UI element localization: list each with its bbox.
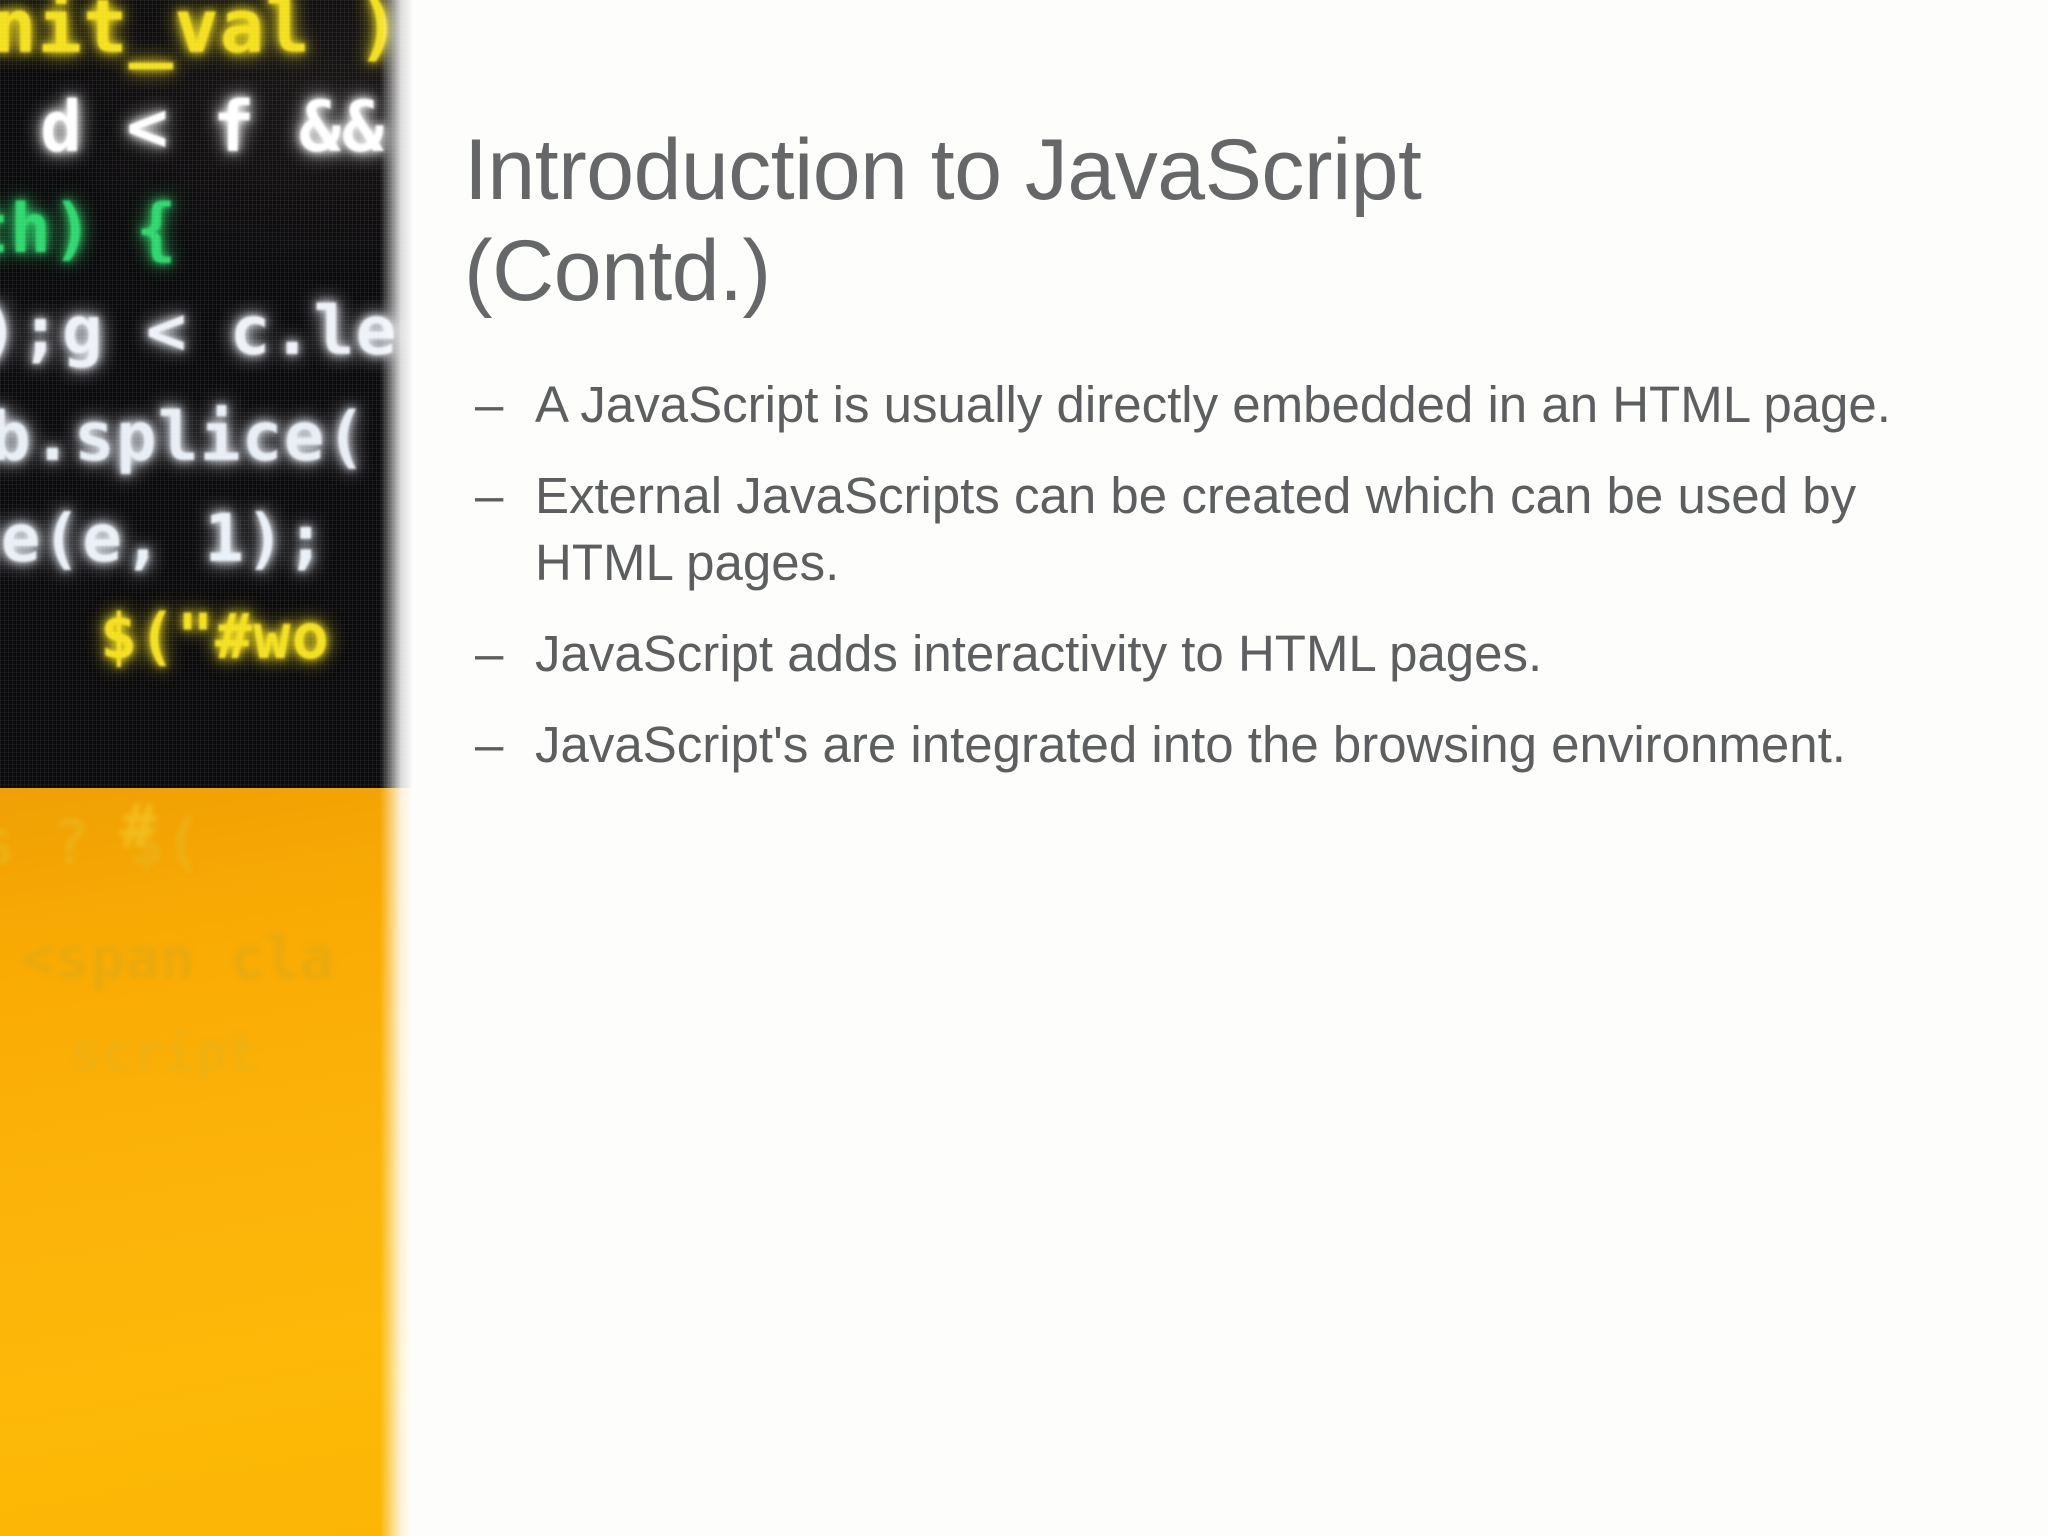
code-snippet-line-5: b.splice( xyxy=(0,398,367,477)
bullet-text-4: JavaScript's are integrated into the bro… xyxy=(535,712,1925,778)
bullet-item-4: – JavaScript's are integrated into the b… xyxy=(475,712,1925,778)
bullet-text-3: JavaScript adds interactivity to HTML pa… xyxy=(535,621,1925,687)
dash-bullet-icon: – xyxy=(475,712,535,778)
code-snippet-line-3: th) { xyxy=(0,190,178,269)
ghost-text-3: <span cla xyxy=(20,924,334,992)
code-snippet-line-4: );g < c.le xyxy=(0,292,397,371)
bullet-item-3: – JavaScript adds interactivity to HTML … xyxy=(475,621,1925,687)
slide-title-line-1: Introduction to JavaScript xyxy=(464,122,1421,218)
dash-bullet-icon: – xyxy=(475,372,535,438)
slide: nit_val ) d < f && th) { );g < c.le b.sp… xyxy=(0,0,2048,1536)
code-snippet-line-1: nit_val ) xyxy=(0,0,402,70)
slide-title: Introduction to JavaScript (Contd.) xyxy=(464,120,1884,323)
bullet-text-1: A JavaScript is usually directly embedde… xyxy=(535,372,1925,438)
bullet-text-2: External JavaScripts can be created whic… xyxy=(535,463,1925,596)
code-snippet-line-2: d < f && xyxy=(40,86,385,168)
ghost-text-1: s ? $( xyxy=(0,806,202,879)
code-editor-photo: nit_val ) d < f && th) { );g < c.le b.sp… xyxy=(0,0,412,788)
orange-gradient-photo: s ? $( # <span cla script xyxy=(0,788,412,1536)
dash-bullet-icon: – xyxy=(475,621,535,687)
bullet-list: – A JavaScript is usually directly embed… xyxy=(475,372,1925,803)
bullet-item-2: – External JavaScripts can be created wh… xyxy=(475,463,1925,596)
code-snippet-line-6: ce(e, 1); xyxy=(0,500,327,577)
code-snippet-line-7: $("#wo xyxy=(100,600,330,673)
slide-content: Introduction to JavaScript (Contd.) – A … xyxy=(412,0,2048,1536)
bullet-item-1: – A JavaScript is usually directly embed… xyxy=(475,372,1925,438)
slide-title-line-2: (Contd.) xyxy=(464,223,771,319)
left-photo-strip: nit_val ) d < f && th) { );g < c.le b.sp… xyxy=(0,0,412,1536)
ghost-text-2: # xyxy=(120,792,156,862)
ghost-text-4: script xyxy=(70,1024,258,1084)
dash-bullet-icon: – xyxy=(475,463,535,529)
